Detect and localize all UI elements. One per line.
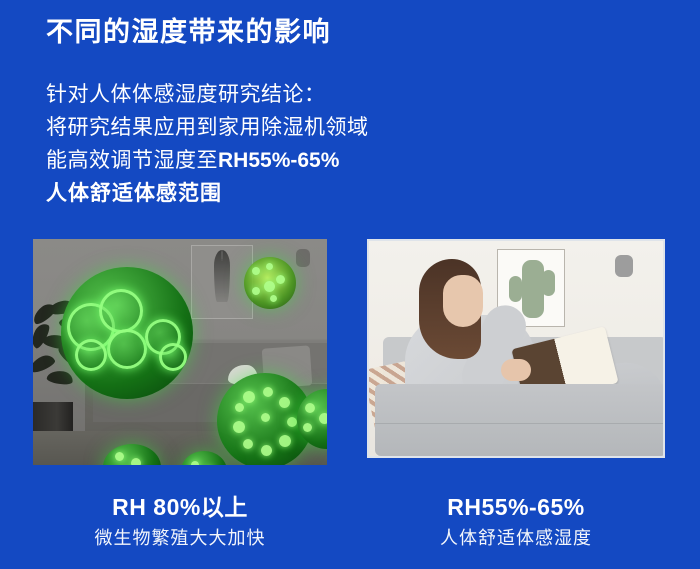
caption-high-humidity: RH 80%以上 微生物繁殖大大加快 [33, 492, 327, 550]
photo-high-humidity [33, 239, 327, 465]
germ-small-top-right [244, 257, 296, 309]
germ-cluster-large [61, 267, 193, 399]
caption-title: RH55%-65% [367, 492, 665, 522]
body-line-3: 能高效调节湿度至RH55%-65% [46, 144, 369, 177]
sofa-seat [375, 384, 665, 456]
body-line-1: 针对人体体感湿度研究结论： [46, 78, 369, 111]
wall-switch [296, 249, 310, 267]
body-copy: 针对人体体感湿度研究结论： 将研究结果应用到家用除湿机领域 能高效调节湿度至RH… [46, 78, 369, 210]
bright-living-room-scene [369, 241, 663, 456]
caption-comfort-humidity: RH55%-65% 人体舒适体感湿度 [367, 492, 665, 550]
caption-row: RH 80%以上 微生物繁殖大大加快 RH55%-65% 人体舒适体感湿度 [0, 492, 700, 569]
person-face [443, 275, 483, 327]
sofa-seam [375, 423, 665, 424]
body-line-2: 将研究结果应用到家用除湿机领域 [46, 111, 369, 144]
caption-title: RH 80%以上 [33, 492, 327, 522]
body-line-3-prefix: 能高效调节湿度至 [46, 149, 218, 172]
caption-subtitle: 人体舒适体感湿度 [367, 526, 665, 550]
photo-comfort-humidity [367, 239, 665, 458]
humidity-infographic-poster: 不同的湿度带来的影响 针对人体体感湿度研究结论： 将研究结果应用到家用除湿机领域… [0, 0, 700, 569]
dim-living-room-scene [33, 239, 327, 465]
wall-switch [615, 255, 633, 277]
cactus-illustration [522, 260, 544, 318]
body-line-3-highlight: RH55%-65% [218, 149, 339, 172]
page-title: 不同的湿度带来的影响 [46, 16, 331, 50]
body-line-4: 人体舒适体感范围 [46, 177, 369, 210]
caption-subtitle: 微生物繁殖大大加快 [33, 526, 327, 550]
person-hand [501, 359, 531, 381]
photo-row [0, 239, 700, 467]
